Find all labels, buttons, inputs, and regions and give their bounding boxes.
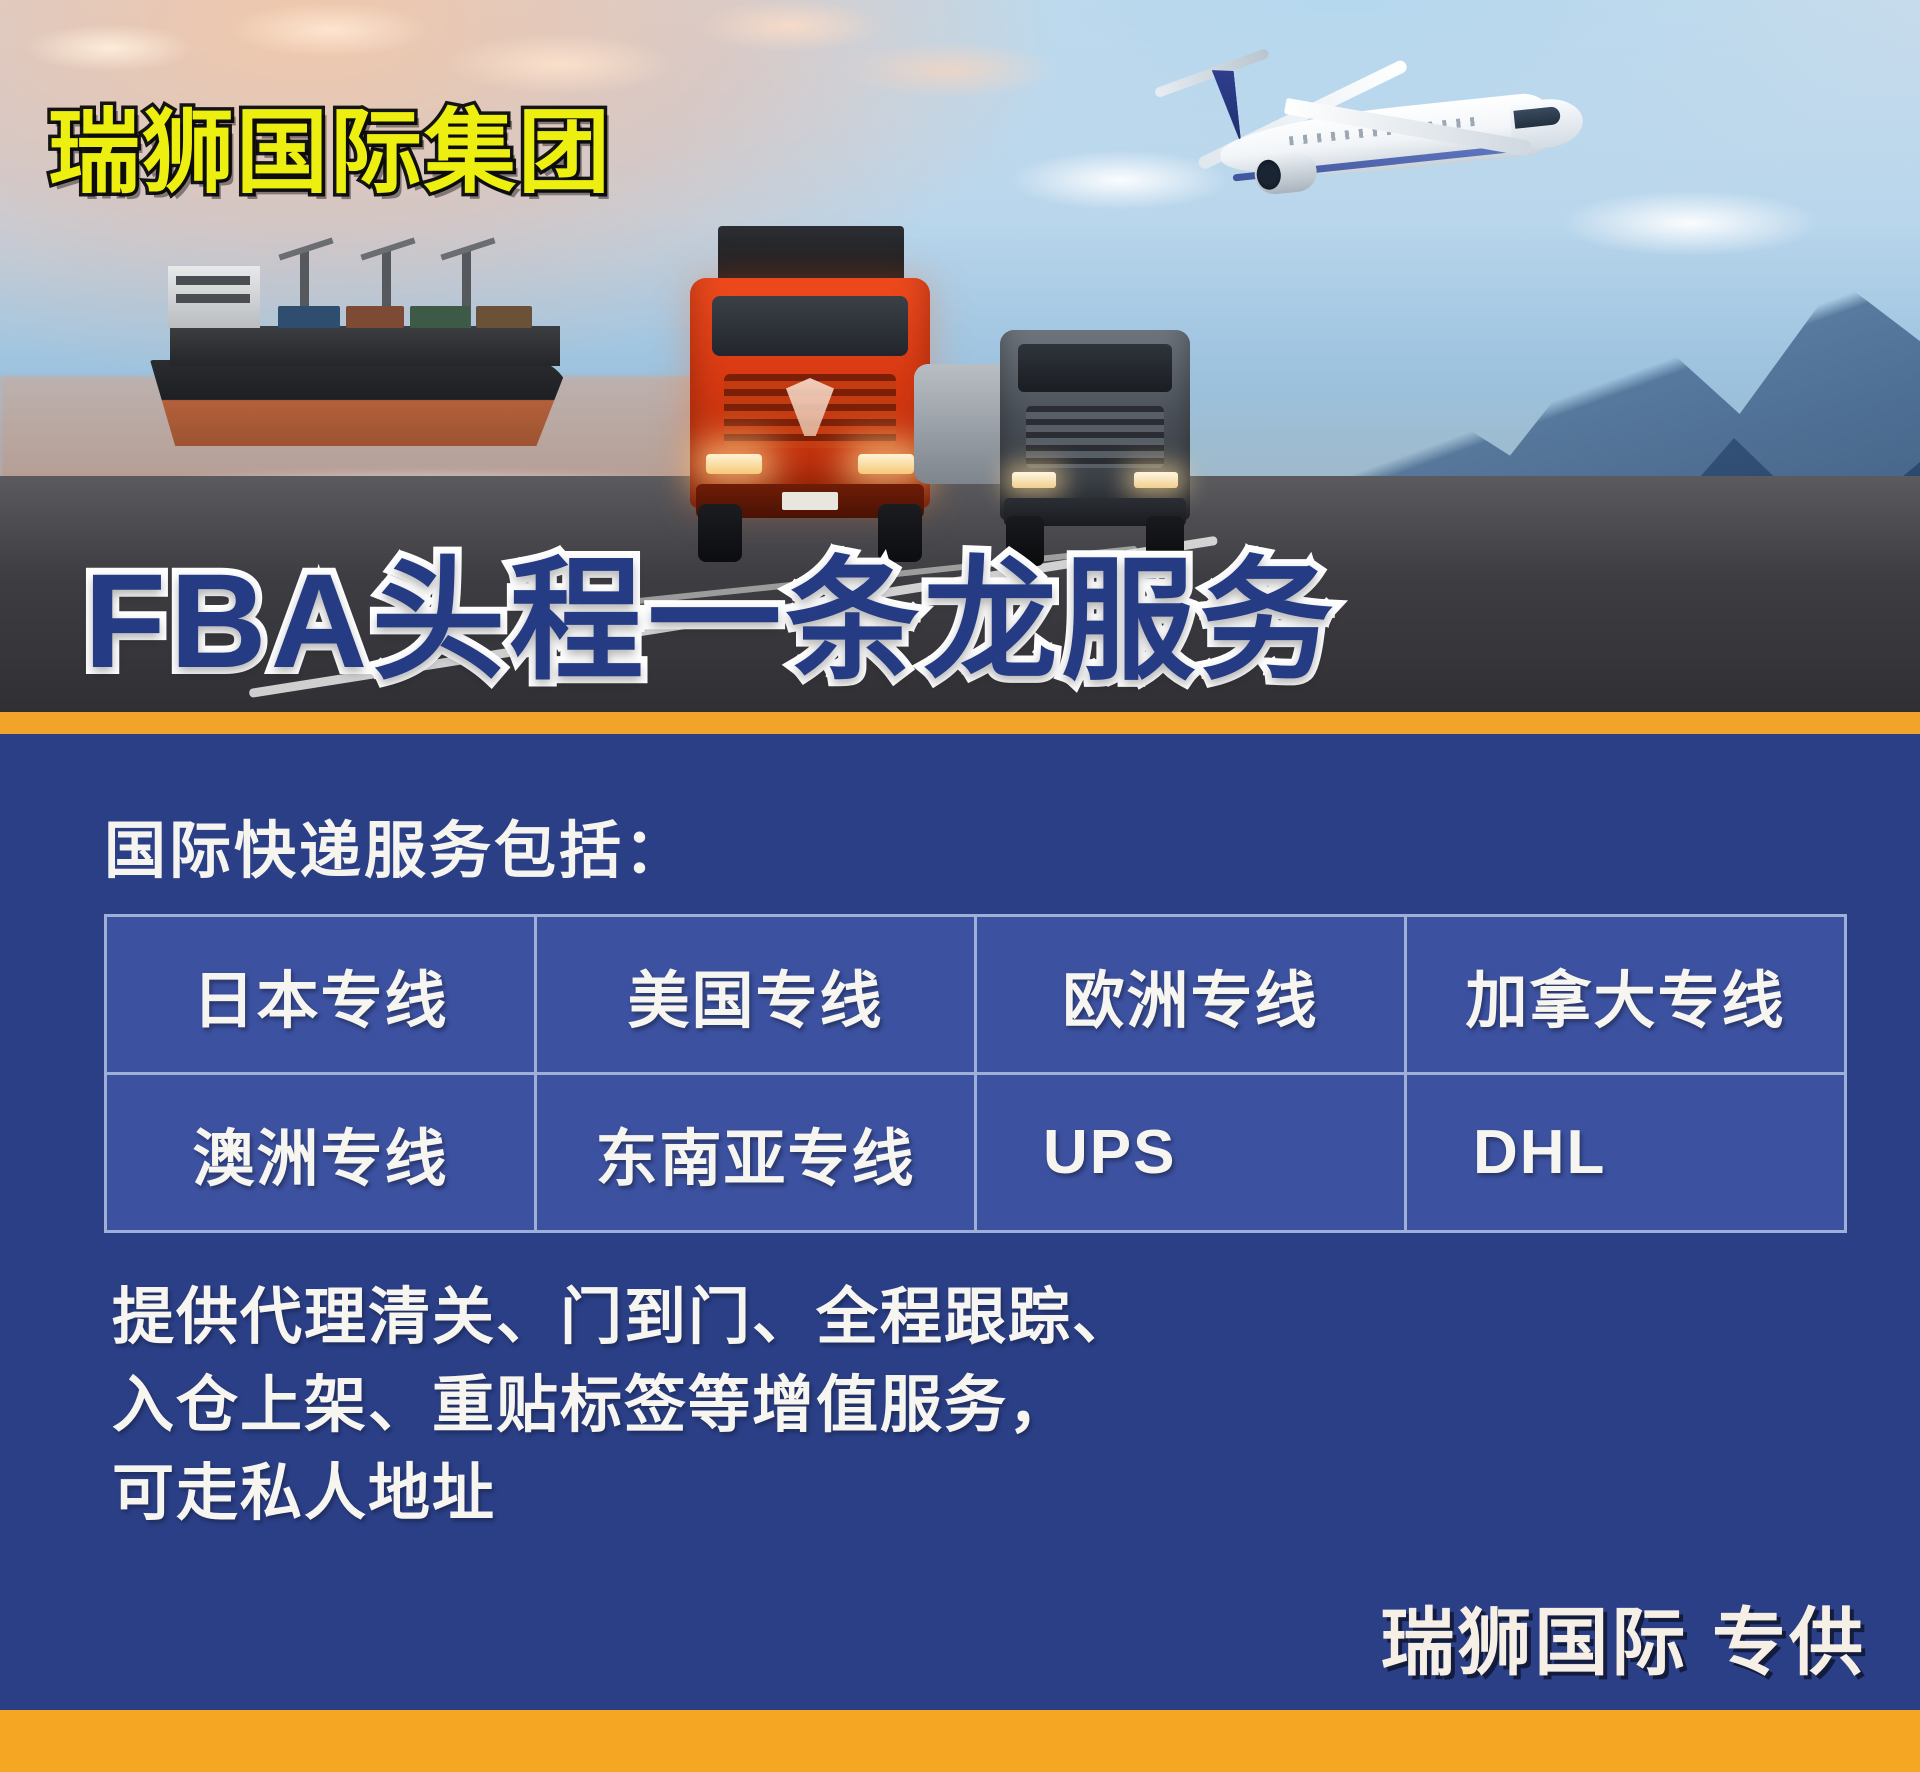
footer-brand-text: 瑞狮国际 专供 bbox=[1380, 1583, 1866, 1690]
service-cell-southeast-asia[interactable]: 东南亚专线 bbox=[536, 1074, 976, 1232]
service-cell-europe[interactable]: 欧洲专线 bbox=[976, 916, 1406, 1074]
value-added-services-text: 提供代理清关、门到门、全程跟踪、 入仓上架、重贴标签等增值服务， 可走私人地址 bbox=[112, 1274, 1136, 1538]
services-table: 日本专线 美国专线 欧洲专线 加拿大专线 澳洲专线 东南亚专线 UPS DHL bbox=[104, 914, 1847, 1233]
info-panel: 国际快递服务包括： 日本专线 美国专线 欧洲专线 加拿大专线 澳洲专线 东南亚专… bbox=[0, 734, 1920, 1716]
cloud-icon bbox=[1560, 190, 1820, 256]
service-cell-usa[interactable]: 美国专线 bbox=[536, 916, 976, 1074]
service-cell-australia[interactable]: 澳洲专线 bbox=[106, 1074, 536, 1232]
service-cell-canada[interactable]: 加拿大专线 bbox=[1406, 916, 1846, 1074]
hero-headline: FBA头程一条龙服务 bbox=[84, 512, 1337, 706]
bottom-gold-bar bbox=[0, 1710, 1920, 1772]
service-cell-japan[interactable]: 日本专线 bbox=[106, 916, 536, 1074]
body-line-1: 提供代理清关、门到门、全程跟踪、 bbox=[112, 1274, 1136, 1362]
gold-divider bbox=[0, 712, 1920, 734]
service-cell-ups[interactable]: UPS bbox=[976, 1074, 1406, 1232]
body-line-2: 入仓上架、重贴标签等增值服务， bbox=[112, 1362, 1136, 1450]
table-row: 澳洲专线 东南亚专线 UPS DHL bbox=[106, 1074, 1846, 1232]
body-line-3: 可走私人地址 bbox=[112, 1450, 1136, 1538]
panel-subtitle: 国际快递服务包括： bbox=[104, 800, 689, 890]
table-row: 日本专线 美国专线 欧洲专线 加拿大专线 bbox=[106, 916, 1846, 1074]
service-cell-dhl[interactable]: DHL bbox=[1406, 1074, 1846, 1232]
promo-banner: 瑞狮国际集团 FBA头程一条龙服务 国际快递服务包括： 日本专线 美国专线 欧洲… bbox=[0, 0, 1920, 1772]
cargo-ship-icon bbox=[150, 246, 570, 446]
brand-logo-text: 瑞狮国际集团 bbox=[48, 78, 612, 211]
